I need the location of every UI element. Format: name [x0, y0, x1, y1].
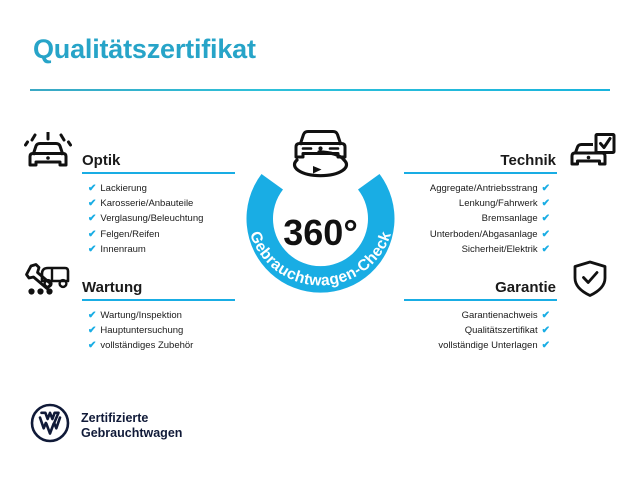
- section-wartung-list: ✔Wartung/Inspektion ✔Hauptuntersuchung ✔…: [88, 308, 234, 354]
- section-optik: Optik ✔Lackierung ✔Karosserie/Anbauteile…: [82, 143, 234, 257]
- section-technik-list: Aggregate/Antriebsstrang✔ Lenkung/Fahrwe…: [404, 181, 550, 257]
- check-icon: ✔: [88, 227, 96, 242]
- list-item-label: Aggregate/Antriebsstrang: [430, 183, 538, 194]
- list-item-label: Karosserie/Anbauteile: [100, 198, 193, 209]
- section-optik-divider: [82, 172, 235, 174]
- list-item: Qualitätszertifikat✔: [404, 323, 550, 338]
- check-icon: ✔: [88, 181, 96, 196]
- check-icon: ✔: [542, 227, 550, 242]
- check-icon: ✔: [88, 338, 96, 353]
- section-garantie: Garantie Garantienachweis✔ Qualitätszert…: [404, 270, 556, 354]
- footer-logo-block: ZertifizierteGebrauchtwagen: [30, 403, 182, 448]
- badge-center-label: 360°: [283, 212, 357, 253]
- list-item-label: Qualitätszertifikat: [465, 325, 538, 336]
- check-icon: ✔: [542, 338, 550, 353]
- section-garantie-list: Garantienachweis✔ Qualitätszertifikat✔ v…: [404, 308, 550, 354]
- section-garantie-header: Garantie: [404, 270, 556, 296]
- section-optik-list: ✔Lackierung ✔Karosserie/Anbauteile ✔Verg…: [88, 181, 234, 257]
- list-item: Unterboden/Abgasanlage✔: [404, 227, 550, 242]
- list-item-label: Unterboden/Abgasanlage: [430, 229, 538, 240]
- list-item: ✔Lackierung: [88, 181, 234, 196]
- vw-logo: [30, 403, 70, 448]
- section-technik-divider: [404, 172, 557, 174]
- badge-360-gebrauchtwagen-check: 360° Gebrauchtwagen-Check: [233, 120, 408, 315]
- section-wartung: Wartung ✔Wartung/Inspektion ✔Hauptunters…: [82, 270, 234, 354]
- list-item: vollständige Unterlagen✔: [404, 338, 550, 353]
- section-technik-title: Technik: [500, 153, 556, 169]
- check-icon: ✔: [88, 323, 96, 338]
- section-wartung-divider: [82, 299, 235, 301]
- check-icon: ✔: [88, 211, 96, 226]
- list-item: Garantienachweis✔: [404, 308, 550, 323]
- section-technik: Technik Aggregate/Antriebsstrang✔ Lenkun…: [404, 143, 556, 257]
- section-garantie-title: Garantie: [495, 280, 556, 296]
- list-item-label: Bremsanlage: [482, 213, 538, 224]
- check-icon: ✔: [542, 211, 550, 226]
- list-item-label: Innenraum: [100, 244, 145, 255]
- check-icon: ✔: [88, 308, 96, 323]
- check-icon: ✔: [542, 181, 550, 196]
- wrench-car-icon: [24, 259, 72, 304]
- list-item: ✔Felgen/Reifen: [88, 227, 234, 242]
- footer-label: ZertifizierteGebrauchtwagen: [81, 411, 182, 441]
- section-technik-header: Technik: [404, 143, 556, 169]
- footer-line2: Gebrauchtwagen: [81, 426, 182, 440]
- section-wartung-header: Wartung: [82, 270, 234, 296]
- list-item-label: vollständiges Zubehör: [100, 340, 193, 351]
- certificate-page: Qualitätszertifikat Optik ✔Lackierung ✔K…: [0, 0, 640, 480]
- footer-line1: Zertifizierte: [81, 411, 148, 425]
- check-icon: ✔: [88, 242, 96, 257]
- list-item: Aggregate/Antriebsstrang✔: [404, 181, 550, 196]
- list-item: Bremsanlage✔: [404, 211, 550, 226]
- list-item-label: vollständige Unterlagen: [438, 340, 537, 351]
- list-item: ✔Innenraum: [88, 242, 234, 257]
- list-item-label: Lackierung: [100, 183, 146, 194]
- list-item-label: Garantienachweis: [462, 310, 538, 321]
- car-shine-icon: [24, 132, 72, 177]
- check-icon: ✔: [88, 196, 96, 211]
- check-icon: ✔: [542, 196, 550, 211]
- section-optik-title: Optik: [82, 153, 120, 169]
- list-item: Lenkung/Fahrwerk✔: [404, 196, 550, 211]
- list-item: ✔vollständiges Zubehör: [88, 338, 234, 353]
- list-item-label: Sicherheit/Elektrik: [462, 244, 538, 255]
- check-icon: ✔: [542, 308, 550, 323]
- list-item: ✔Karosserie/Anbauteile: [88, 196, 234, 211]
- check-icon: ✔: [542, 242, 550, 257]
- list-item-label: Lenkung/Fahrwerk: [459, 198, 538, 209]
- list-item: ✔Wartung/Inspektion: [88, 308, 234, 323]
- section-wartung-title: Wartung: [82, 280, 142, 296]
- list-item: ✔Hauptuntersuchung: [88, 323, 234, 338]
- list-item: Sicherheit/Elektrik✔: [404, 242, 550, 257]
- shield-check-icon: [570, 259, 610, 304]
- title-divider: [30, 89, 610, 91]
- check-icon: ✔: [542, 323, 550, 338]
- list-item: ✔Verglasung/Beleuchtung: [88, 211, 234, 226]
- car-checkbox-icon: [568, 132, 616, 177]
- section-garantie-divider: [404, 299, 557, 301]
- section-optik-header: Optik: [82, 143, 234, 169]
- list-item-label: Verglasung/Beleuchtung: [100, 213, 203, 224]
- list-item-label: Hauptuntersuchung: [100, 325, 183, 336]
- page-title: Qualitätszertifikat: [33, 34, 256, 65]
- list-item-label: Felgen/Reifen: [100, 229, 159, 240]
- list-item-label: Wartung/Inspektion: [100, 310, 182, 321]
